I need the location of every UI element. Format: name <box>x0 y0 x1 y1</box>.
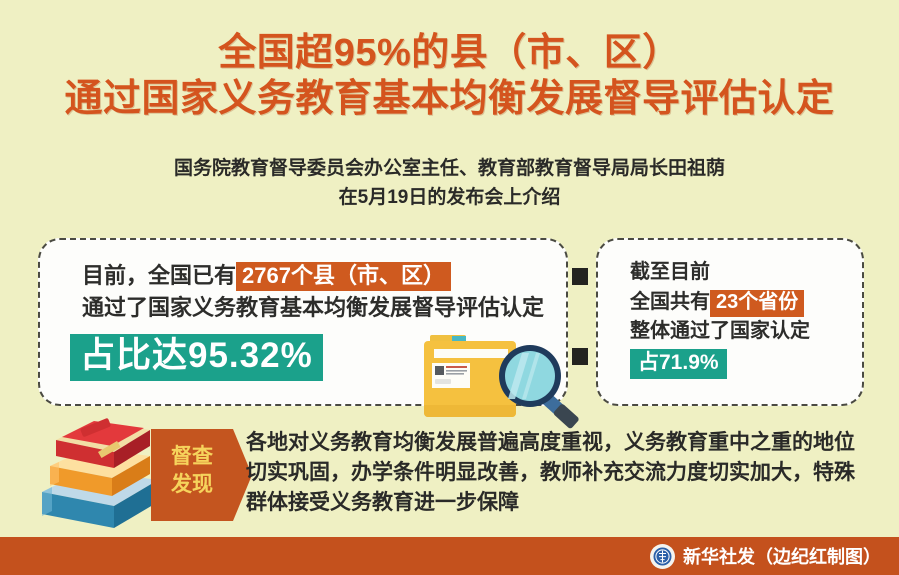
right-card-line-2: 全国共有23个省份 <box>630 288 810 318</box>
percentage-highlight: 占比达95.32% <box>70 334 323 381</box>
finding-badge: 督查 发现 <box>151 429 233 521</box>
footer-credit-text: 新华社发（边纪红制图） <box>683 543 881 569</box>
right-card-line2-prefix: 全国共有 <box>630 291 710 313</box>
subtitle-line-2: 在5月19日的发布会上介绍 <box>0 184 899 213</box>
right-card-line-1: 截至目前 <box>630 258 810 288</box>
left-card-row1-prefix: 目前，全国已有 <box>82 263 236 288</box>
folder-magnifier-illustration <box>404 333 596 425</box>
xinhua-logo-icon <box>650 544 675 569</box>
title-line-2: 通过国家义务教育基本均衡发展督导评估认定 <box>0 76 899 122</box>
province-percentage-highlight: 占71.9% <box>630 349 727 379</box>
books-stack-icon <box>36 418 162 540</box>
badge-line-2: 发现 <box>151 471 233 499</box>
page-title: 全国超95%的县（市、区） 通过国家义务教育基本均衡发展督导评估认定 <box>0 30 899 123</box>
right-stat-card: 截至目前 全国共有23个省份 整体通过了国家认定 占71.9% <box>596 238 864 406</box>
right-card-line-3: 整体通过了国家认定 <box>630 317 810 347</box>
bottom-paragraph: 各地对义务教育均衡发展普遍高度重视，义务教育重中之重的地位切实巩固，办学条件明显… <box>246 428 866 517</box>
provinces-count-highlight: 23个省份 <box>710 290 804 317</box>
left-card-row-1: 目前，全国已有2767个县（市、区） <box>82 262 451 291</box>
right-card-content: 截至目前 全国共有23个省份 整体通过了国家认定 占71.9% <box>630 258 810 379</box>
magnifier-icon <box>496 341 592 433</box>
right-card-line-4: 占71.9% <box>630 349 810 379</box>
badge-line-1: 督查 <box>151 443 233 471</box>
subtitle-line-1: 国务院教育督导委员会办公室主任、教育部教育督导局局长田祖荫 <box>0 155 899 184</box>
counties-count-highlight: 2767个县（市、区） <box>236 262 451 291</box>
left-card-row-3: 占比达95.32% <box>70 334 323 381</box>
title-line-1: 全国超95%的县（市、区） <box>0 30 899 76</box>
footer-bar: 新华社发（边纪红制图） <box>0 537 899 575</box>
connector-square-top <box>572 268 588 285</box>
subtitle: 国务院教育督导委员会办公室主任、教育部教育督导局局长田祖荫 在5月19日的发布会… <box>0 155 899 212</box>
infographic-canvas: 全国超95%的县（市、区） 通过国家义务教育基本均衡发展督导评估认定 国务院教育… <box>0 0 899 575</box>
left-card-row-2: 通过了国家义务教育基本均衡发展督导评估认定 <box>82 296 544 320</box>
footer-credit: 新华社发（边纪红制图） <box>650 537 881 575</box>
